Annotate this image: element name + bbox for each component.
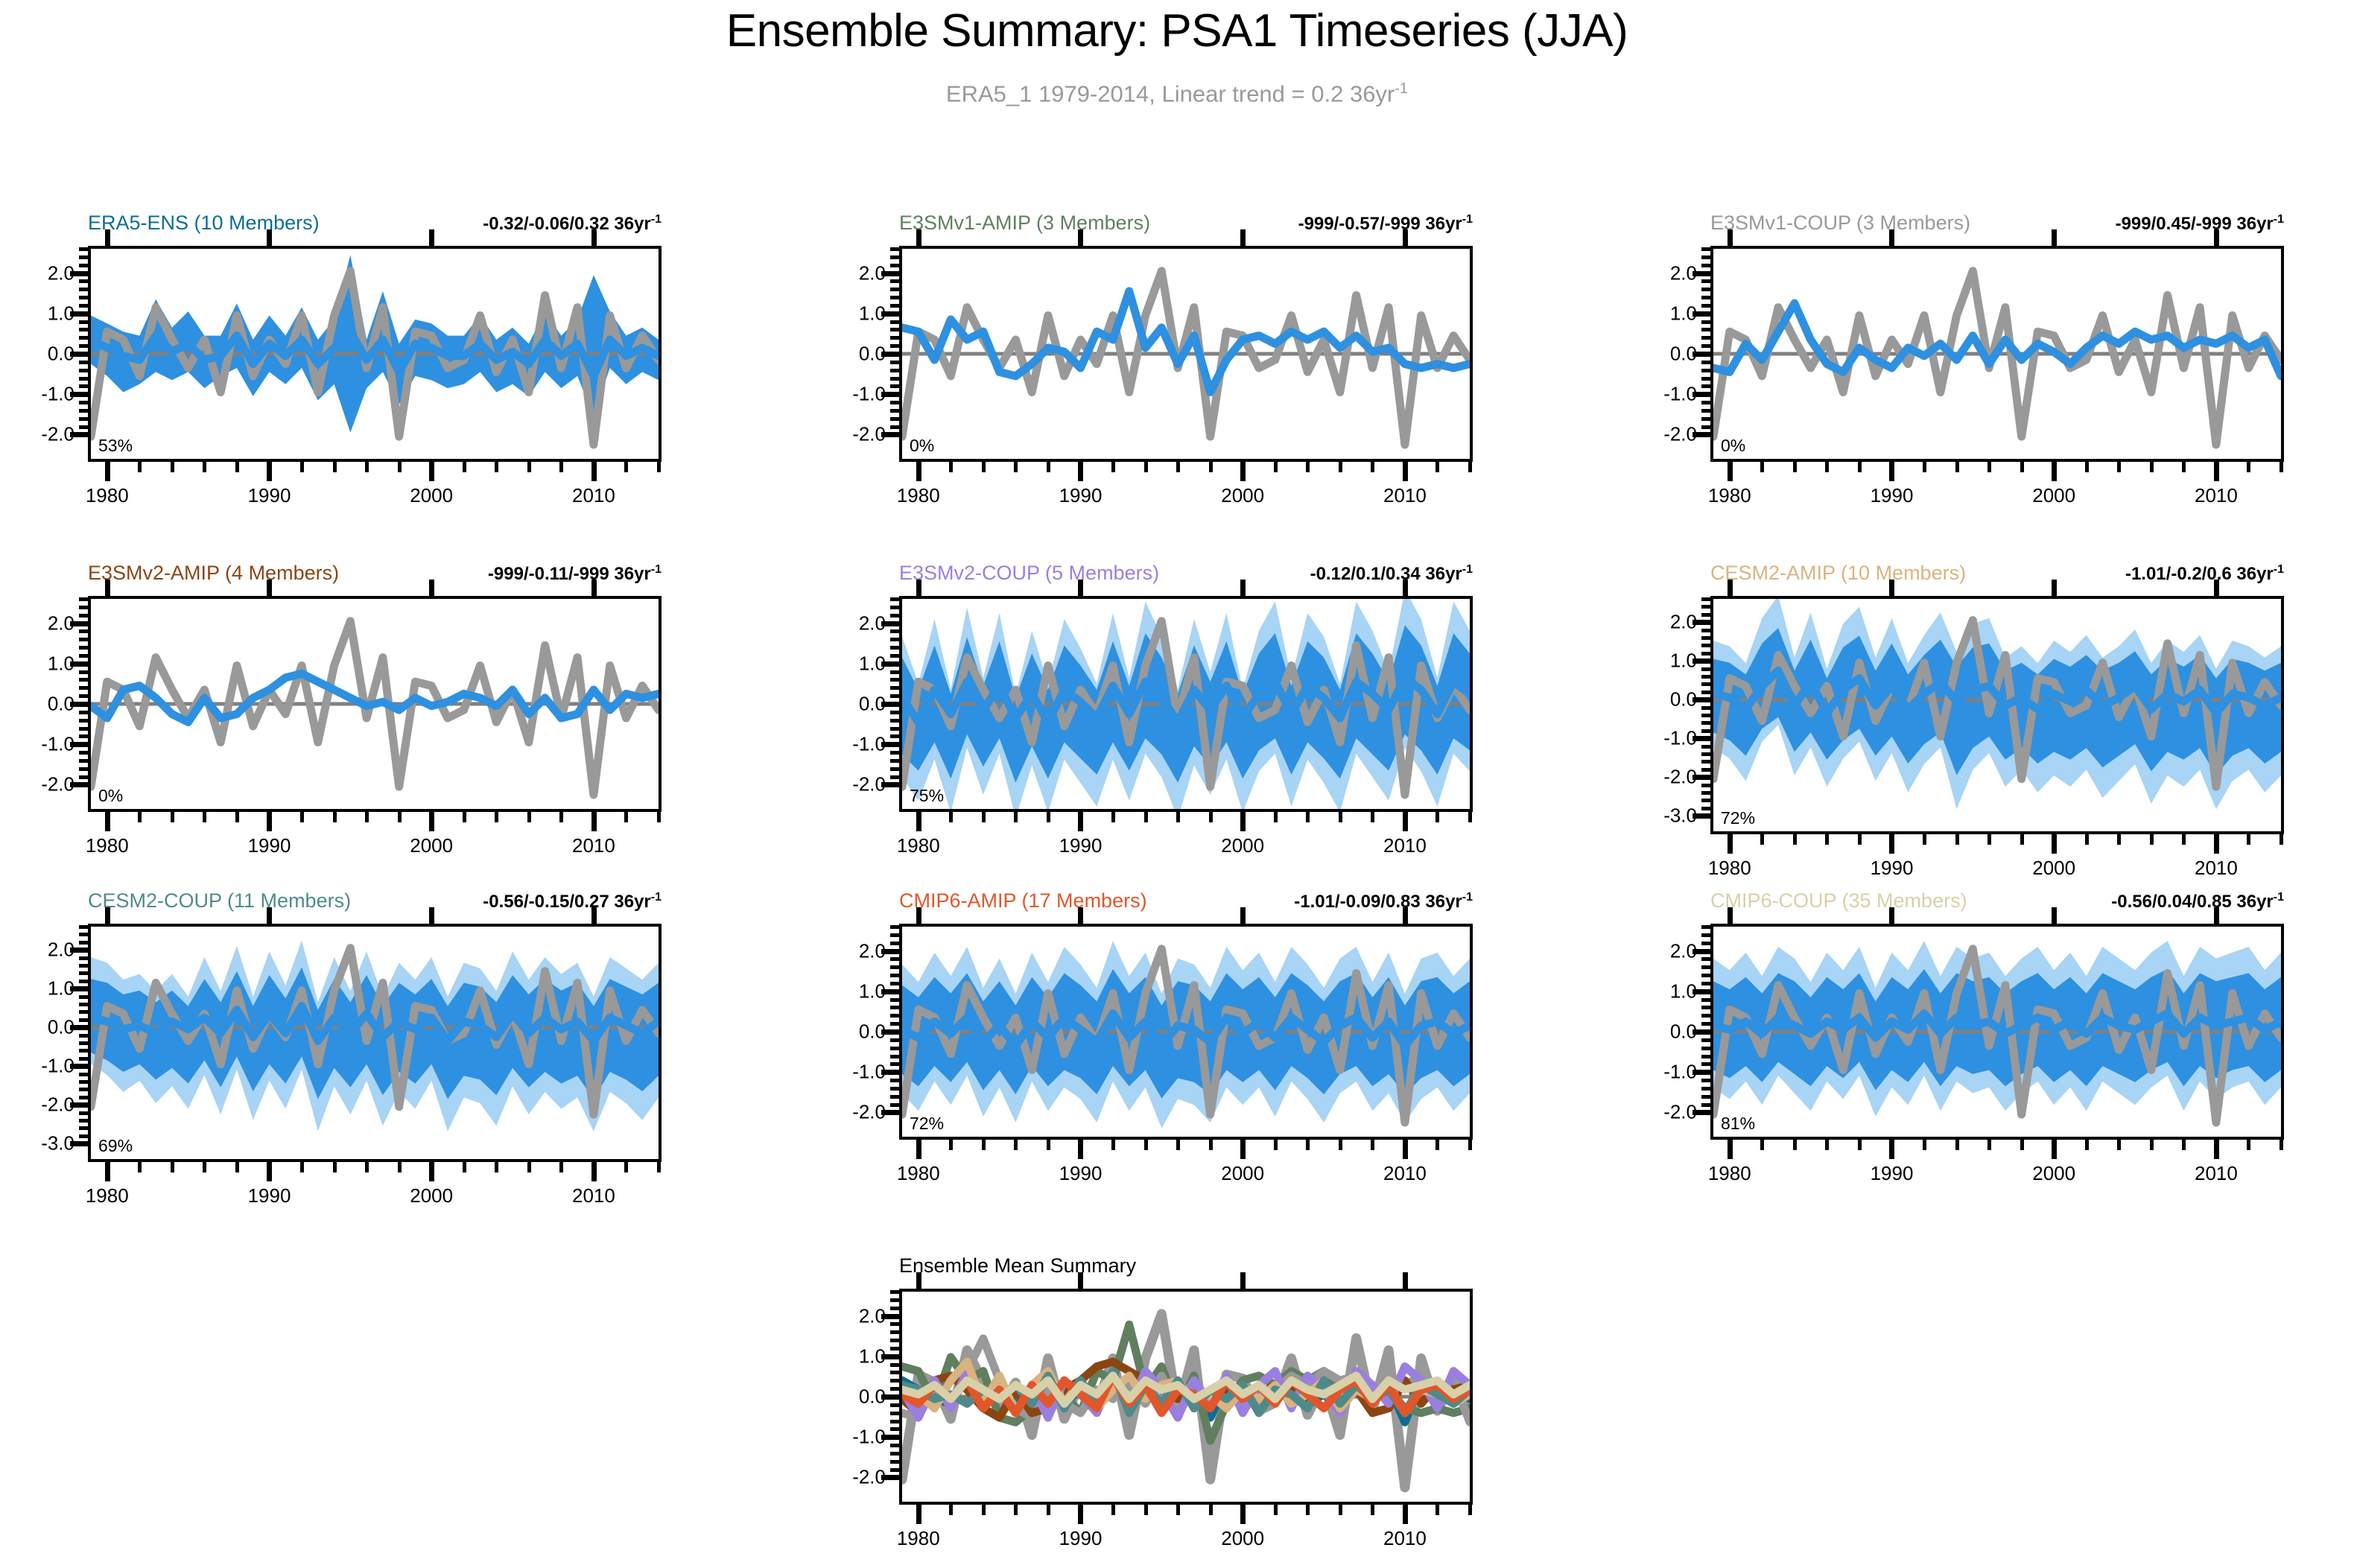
panel-stat-value-e3smv2-coup: -0.12/0.1/0.34 36yr [1310,564,1462,584]
y-minor-tick [1701,597,1712,601]
y-minor-tick [890,942,901,945]
y-minor-tick [1701,264,1712,267]
x-minor-tick [203,1162,206,1172]
plot-area-cesm2-coup[interactable]: 69% [88,924,662,1162]
y-minor-tick [1701,691,1712,694]
x-minor-tick [592,812,596,822]
y-minor-tick [1701,425,1712,429]
y-minor-tick [890,1079,901,1082]
x-tick-label: 2010 [2195,857,2238,880]
x-tick-label: 1990 [248,834,291,857]
y-minor-tick [1701,328,1712,331]
x-tick-label: 1990 [1871,857,1914,880]
y-minor-tick [890,1062,901,1066]
x-minor-tick [1987,462,1991,472]
x-major-tick-top [2214,229,2219,247]
y-minor-tick [1701,369,1712,372]
x-major-tick-top [1728,907,1733,925]
y-minor-tick [1701,272,1712,276]
y-minor-tick [79,1041,89,1045]
y-minor-tick [79,662,89,666]
x-minor-tick [2150,462,2154,472]
x-minor-tick [2150,1140,2154,1150]
y-minor-tick [890,320,901,324]
x-minor-tick [398,1162,402,1172]
y-minor-tick [1701,620,1712,624]
y-minor-tick [890,1322,901,1326]
x-minor-tick [2020,462,2024,472]
panel-stat-e3smv2-coup: -0.12/0.1/0.34 36yr-1 [899,563,1473,585]
x-minor-tick [2215,462,2218,472]
y-minor-tick [890,369,901,372]
x-minor-tick [982,462,986,472]
y-minor-tick [79,638,89,641]
y-minor-tick [1701,296,1712,299]
y-minor-tick [79,417,89,421]
y-minor-tick [890,606,901,609]
y-minor-tick [79,409,89,413]
y-minor-tick [890,686,901,690]
y-minor-tick [890,727,901,731]
y-minor-tick [1701,784,1712,787]
x-tick-label: 1990 [1059,834,1103,857]
x-minor-tick [1079,812,1082,822]
x-minor-tick [203,462,206,472]
y-minor-tick [890,1363,901,1367]
y-minor-tick [1701,675,1712,679]
x-major-tick-top [429,580,434,597]
x-tick-label: 2010 [2195,1162,2238,1185]
y-minor-tick [1701,1014,1712,1018]
y-minor-tick [79,654,89,658]
plot-area-e3smv1-coup[interactable]: 0% [1710,246,2284,462]
y-minor-tick [79,948,89,952]
panel-stat-value-cmip6-coup: -0.56/0.04/0.85 36yr [2111,892,2274,912]
x-minor-tick [106,812,110,822]
y-minor-tick [1701,745,1712,749]
x-minor-tick [495,812,498,822]
x-minor-tick [1176,1140,1180,1150]
y-minor-tick [890,1103,901,1107]
y-minor-tick [79,1057,89,1061]
x-major-tick-top [916,580,921,597]
y-minor-tick [890,344,901,348]
x-minor-tick [203,812,206,822]
panel-stat-exponent-cesm2-coup: -1 [651,891,662,904]
y-minor-tick [79,995,89,999]
y-minor-tick [79,1103,89,1107]
y-minor-tick [890,417,901,421]
y-minor-tick [79,279,89,283]
x-minor-tick [1047,1505,1050,1515]
panel-stat-value-e3smv1-coup: -999/0.45/-999 36yr [2116,214,2274,234]
agreement-percent-e3smv2-amip: 0% [98,786,123,806]
plot-surface [91,249,659,459]
y-minor-tick [890,1055,901,1058]
y-minor-tick [890,272,901,276]
y-minor-tick [79,1142,89,1146]
x-tick-label: 2010 [1383,484,1427,507]
y-minor-tick [79,1134,89,1138]
y-minor-tick [890,328,901,331]
y-minor-tick [890,1412,901,1415]
y-minor-tick [890,384,901,388]
y-minor-tick [1701,990,1712,994]
x-minor-tick [1793,462,1797,472]
y-minor-tick [79,288,89,291]
x-minor-tick [1176,1505,1180,1515]
y-minor-tick [1701,1111,1712,1114]
x-minor-tick [1468,1505,1472,1515]
plot-area-era5-ens[interactable]: 53% [88,246,662,462]
y-minor-tick [1701,312,1712,316]
x-tick-label: 2000 [410,1184,453,1207]
y-minor-tick [1701,288,1712,291]
panel-stat-exponent-cesm2-amip: -1 [2274,563,2284,576]
x-minor-tick [106,462,110,472]
x-minor-tick [1339,462,1342,472]
x-minor-tick [1728,834,1732,845]
y-minor-tick [79,361,89,364]
y-minor-tick [890,759,901,763]
x-major-tick-top [916,229,921,247]
y-minor-tick [890,1444,901,1447]
x-minor-tick [1014,462,1018,472]
x-minor-tick [982,812,986,822]
x-tick-label: 1980 [1708,1162,1751,1185]
x-major-tick-top [2052,229,2057,247]
plot-surface [902,249,1470,459]
plot-area-e3smv1-amip[interactable]: 0% [899,246,1473,462]
y-minor-tick [890,622,901,626]
x-minor-tick [1241,812,1245,822]
y-minor-tick [79,1018,89,1022]
panel-stat-value-cmip6-amip: -1.01/-0.09/0.83 36yr [1294,892,1462,912]
x-minor-tick [1825,1140,1829,1150]
plot-surface [902,927,1470,1137]
y-minor-tick [890,1307,901,1310]
y-minor-tick [1701,667,1712,671]
y-minor-tick [79,933,89,936]
subtitle-text: ERA5_1 1979-2014, Linear trend = 0.2 36y… [946,80,1395,107]
y-minor-tick [1701,729,1712,733]
x-major-tick-top [1889,580,1894,597]
x-minor-tick [2247,462,2250,472]
plot-area-cesm2-amip[interactable]: 72% [1710,596,2284,834]
x-minor-tick [1955,834,1959,845]
x-minor-tick [1890,1140,1894,1150]
x-tick-label: 2000 [1221,484,1264,507]
x-tick-label: 1980 [897,834,940,857]
y-minor-tick [890,255,901,259]
y-minor-tick [890,933,901,937]
x-minor-tick [1209,812,1213,822]
plot-area-cmip6-coup[interactable]: 81% [1710,924,2284,1140]
y-minor-tick [890,998,901,1002]
x-tick-label: 1980 [86,1184,129,1207]
y-minor-tick [1701,1079,1712,1082]
y-minor-tick [890,1095,901,1099]
x-minor-tick [1111,1505,1115,1515]
plot-area-summary[interactable] [899,1289,1473,1505]
y-minor-tick [890,336,901,340]
y-minor-tick [890,638,901,641]
x-minor-tick [1241,1505,1245,1515]
x-tick-label: 2000 [1221,1527,1264,1550]
figure-canvas: Ensemble Summary: PSA1 Timeseries (JJA) … [0,0,2354,1568]
y-minor-tick [1701,974,1712,977]
x-minor-tick [1339,1140,1342,1150]
x-tick-label: 1990 [1059,484,1103,507]
x-major-tick-top [105,580,110,597]
x-minor-tick [235,462,239,472]
y-minor-tick [1701,1022,1712,1026]
x-major-tick-top [1403,1272,1408,1290]
x-minor-tick [1435,812,1439,822]
y-minor-tick [1701,721,1712,725]
x-major-tick-top [2052,907,2057,925]
x-minor-tick [1923,834,1926,845]
x-minor-tick [1435,1140,1439,1150]
y-minor-tick [1701,1095,1712,1099]
x-minor-tick [138,1162,142,1172]
x-minor-tick [1144,1505,1148,1515]
x-tick-label: 2000 [1221,834,1264,857]
panel-stat-exponent-era5-ens: -1 [651,213,662,226]
x-minor-tick [171,1162,174,1172]
panel-stat-exponent-e3smv2-coup: -1 [1462,563,1473,576]
x-tick-label: 1990 [248,1184,291,1207]
y-minor-tick [79,296,89,299]
y-minor-tick [1701,336,1712,340]
x-minor-tick [592,1162,596,1172]
x-minor-tick [365,462,369,472]
x-minor-tick [982,1140,986,1150]
plot-area-cmip6-amip[interactable]: 72% [899,924,1473,1140]
x-minor-tick [1955,462,1959,472]
x-minor-tick [2085,1140,2089,1150]
plot-surface [91,599,659,809]
y-minor-tick [79,751,89,755]
x-minor-tick [267,1162,271,1172]
agreement-percent-e3smv2-coup: 75% [910,786,944,806]
x-minor-tick [527,462,531,472]
plot-surface [1713,927,2281,1137]
y-minor-tick [79,670,89,674]
y-minor-tick [1701,942,1712,945]
y-minor-tick [79,759,89,763]
y-minor-tick [1701,925,1712,929]
x-minor-tick [1435,462,1439,472]
y-minor-tick [890,1315,901,1318]
x-minor-tick [2247,1140,2250,1150]
x-tick-label: 2000 [410,484,453,507]
y-minor-tick [1701,352,1712,356]
y-minor-tick [1701,965,1712,969]
x-major-tick-top [1889,907,1894,925]
x-minor-tick [1079,462,1082,472]
x-minor-tick [1403,1140,1407,1150]
y-minor-tick [1701,998,1712,1002]
x-minor-tick [171,812,174,822]
y-minor-tick [79,384,89,388]
agreement-percent-era5-ens: 53% [98,436,133,456]
y-minor-tick [1701,417,1712,421]
x-tick-label: 1990 [1871,484,1914,507]
y-minor-tick [890,702,901,706]
x-major-tick-top [267,580,272,597]
y-minor-tick [1701,652,1712,656]
y-minor-tick [890,425,901,429]
y-minor-tick [890,1038,901,1042]
y-minor-tick [1701,698,1712,702]
x-minor-tick [300,1162,304,1172]
x-tick-label: 2010 [572,1184,615,1207]
y-minor-tick [1701,279,1712,283]
x-major-tick-top [1728,580,1733,597]
agreement-percent-cesm2-coup: 69% [98,1136,133,1156]
x-minor-tick [917,812,921,822]
y-minor-tick [890,965,901,969]
y-minor-tick [890,1395,901,1399]
y-minor-tick [79,1073,89,1076]
x-minor-tick [1176,462,1180,472]
x-major-tick-top [105,229,110,247]
y-minor-tick [890,1427,901,1431]
y-minor-tick [1701,1055,1712,1058]
x-major-tick-top [429,907,434,925]
y-minor-tick [890,751,901,755]
x-minor-tick [2117,1140,2121,1150]
x-major-tick-top [2214,907,2219,925]
plot-area-e3smv2-coup[interactable]: 75% [899,596,1473,812]
panel-stat-exponent-e3smv1-amip: -1 [1462,213,1473,226]
x-minor-tick [624,462,628,472]
y-minor-tick [1701,737,1712,740]
plot-area-e3smv2-amip[interactable]: 0% [88,596,662,812]
x-minor-tick [559,1162,563,1172]
panel-stat-cmip6-coup: -0.56/0.04/0.85 36yr-1 [1710,891,2284,912]
y-minor-tick [890,1006,901,1009]
y-minor-tick [890,670,901,674]
x-minor-tick [1047,462,1050,472]
x-minor-tick [398,812,402,822]
y-minor-tick [79,711,89,714]
y-minor-tick [1701,320,1712,324]
x-minor-tick [2247,834,2250,845]
y-minor-tick [79,964,89,968]
x-minor-tick [1858,1140,1862,1150]
x-major-tick-top [1078,580,1083,597]
x-major-tick-top [1240,580,1246,597]
x-minor-tick [1728,462,1732,472]
x-minor-tick [1468,462,1472,472]
y-minor-tick [79,925,89,929]
y-minor-tick [890,288,901,291]
x-major-tick-top [267,229,272,247]
x-major-tick-top [916,1272,921,1290]
y-minor-tick [890,247,901,251]
x-minor-tick [1435,1505,1439,1515]
x-major-tick-top [1889,229,1894,247]
plot-surface [1713,599,2281,831]
x-minor-tick [1403,1505,1407,1515]
x-minor-tick [1403,462,1407,472]
y-minor-tick [79,678,89,682]
y-minor-tick [79,971,89,975]
y-minor-tick [1701,814,1712,818]
x-major-tick-top [1078,1272,1083,1290]
x-major-tick-top [2052,580,2057,597]
y-minor-tick [890,361,901,364]
x-minor-tick [171,462,174,472]
x-major-tick-top [1240,229,1246,247]
y-minor-tick [890,1420,901,1423]
x-minor-tick [1306,1140,1310,1150]
x-minor-tick [2020,834,2024,845]
y-minor-tick [890,646,901,650]
x-minor-tick [1955,1140,1959,1150]
x-minor-tick [2117,834,2121,845]
y-minor-tick [890,1290,901,1294]
x-major-tick-top [1240,907,1246,925]
x-minor-tick [2052,462,2056,472]
x-minor-tick [624,812,628,822]
x-minor-tick [1760,1140,1764,1150]
x-minor-tick [1371,812,1374,822]
y-minor-tick [1701,377,1712,381]
y-minor-tick [79,1111,89,1115]
x-minor-tick [1403,812,1407,822]
x-minor-tick [1274,462,1278,472]
y-minor-tick [890,678,901,682]
y-minor-tick [79,1126,89,1130]
x-minor-tick [527,812,531,822]
y-minor-tick [890,982,901,985]
y-minor-tick [890,304,901,308]
y-minor-tick [79,956,89,960]
y-minor-tick [890,925,901,929]
y-minor-tick [1701,957,1712,961]
y-minor-tick [890,264,901,267]
y-minor-tick [1701,682,1712,686]
y-minor-tick [79,393,89,396]
x-major-tick-top [1403,907,1408,925]
x-major-tick-top [1078,229,1083,247]
y-minor-tick [1701,807,1712,810]
y-minor-tick [79,328,89,331]
x-major-tick-top [591,229,597,247]
x-minor-tick [1987,1140,1991,1150]
y-minor-tick [890,1347,901,1350]
x-minor-tick [267,462,271,472]
x-minor-tick [463,462,466,472]
y-minor-tick [1701,1087,1712,1091]
x-minor-tick [106,1162,110,1172]
y-minor-tick [890,654,901,658]
y-minor-tick [890,614,901,618]
y-minor-tick [890,662,901,666]
y-minor-tick [79,1080,89,1084]
x-minor-tick [1306,1505,1310,1515]
y-minor-tick [890,711,901,714]
y-minor-tick [890,1403,901,1407]
y-minor-tick [1701,344,1712,348]
x-minor-tick [1209,1140,1213,1150]
y-minor-tick [79,1096,89,1099]
y-minor-tick [79,783,89,787]
y-minor-tick [890,1030,901,1034]
